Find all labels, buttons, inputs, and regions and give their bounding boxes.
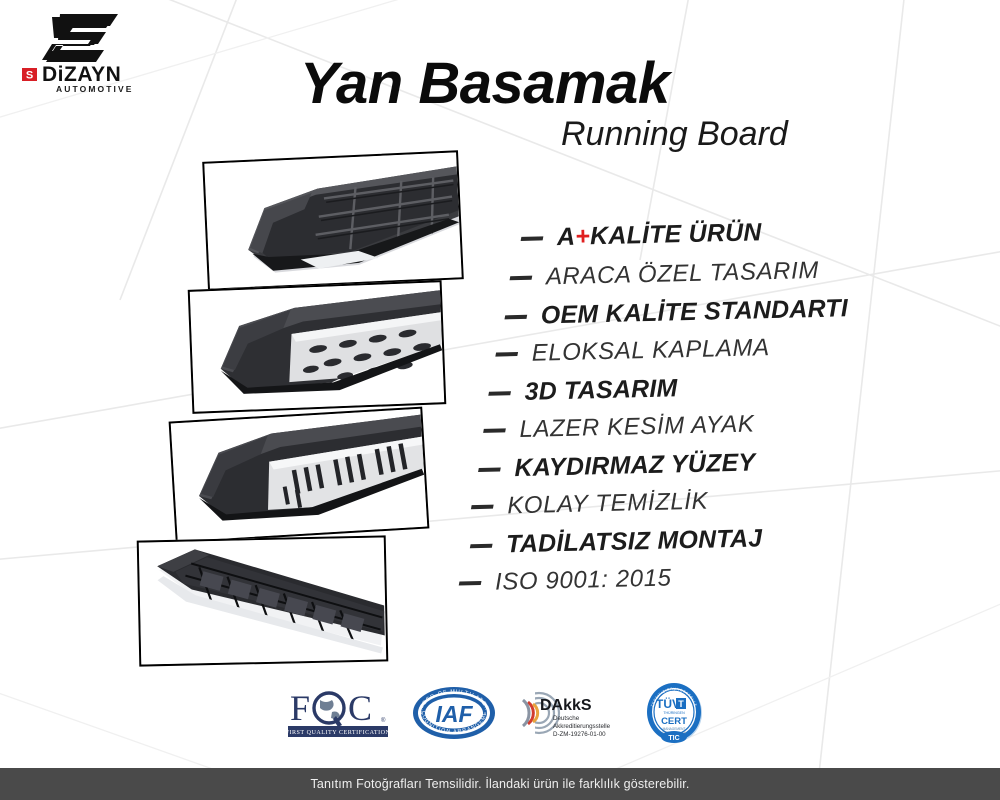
feature-item: TADİLATSIZ MONTAJ: [470, 526, 763, 558]
bullet-dash-icon: [495, 352, 518, 357]
cert-fqc-letters: F: [290, 688, 310, 728]
bullet-dash-icon: [504, 314, 527, 319]
feature-item: ELOKSAL KAPLAMA: [495, 336, 770, 366]
bullet-dash-icon: [471, 505, 494, 510]
feature-label: KOLAY TEMİZLİK: [507, 490, 708, 519]
feature-label: OEM KALİTE STANDARTI: [541, 296, 849, 328]
cert-dakks-line2: Akkreditierungsstelle: [553, 723, 611, 730]
feature-item: 3D TASARIM: [488, 376, 677, 405]
bullet-dash-icon: [488, 391, 511, 396]
svg-text:T: T: [678, 699, 684, 709]
feature-item: OEM KALİTE STANDARTI: [505, 296, 849, 329]
certification-badges: F C ® FIRST QUALITY CERTIFICATION IAF: [286, 684, 706, 746]
feature-item: KOLAY TEMİZLİK: [471, 490, 708, 520]
cert-dakks-line3: D-ZM-19276-01-00: [553, 731, 606, 738]
footer-disclaimer: Tanıtım Fotoğrafları Temsilidir. İlandak…: [310, 777, 689, 791]
bullet-dash-icon: [470, 543, 493, 548]
cert-dakks-line1: Deutsche: [553, 715, 580, 722]
feature-label: A+KALİTE ÜRÜN: [557, 220, 762, 250]
feature-item: A+KALİTE ÜRÜN: [521, 220, 762, 251]
cert-tuv-cert: CERT: [661, 716, 687, 727]
feature-label: LAZER KESİM AYAK: [519, 412, 755, 442]
cert-badge-fqc: F C ® FIRST QUALITY CERTIFICATION: [286, 686, 390, 745]
feature-label: TADİLATSIZ MONTAJ: [506, 526, 763, 557]
cert-badge-dakks: DAkkS Deutsche Akkreditierungsstelle D-Z…: [519, 686, 623, 745]
feature-list: A+KALİTE ÜRÜN ARACA ÖZEL TASARIM OEM KAL…: [451, 217, 930, 598]
feature-label: ELOKSAL KAPLAMA: [531, 336, 770, 366]
cert-dakks-name: DAkkS: [540, 697, 592, 714]
brand-tagline: AUTOMOTIVE: [56, 85, 134, 94]
brand-s-badge-icon: S: [22, 67, 37, 82]
feature-label: 3D TASARIM: [524, 376, 677, 405]
svg-text:®: ®: [381, 717, 386, 724]
product-photo: [137, 535, 389, 666]
product-photo: [169, 407, 430, 544]
bullet-dash-icon: [510, 276, 533, 281]
page-subtitle: Running Board: [561, 117, 788, 151]
brand-name: DiZAYN: [42, 64, 121, 85]
product-photo: [188, 280, 447, 414]
brand-wordmark: S DiZAYN: [22, 64, 157, 84]
cert-tuv-bottom: TIC: [668, 735, 679, 742]
cert-fqc-caption: FIRST QUALITY CERTIFICATION: [286, 730, 390, 736]
feature-label: ARACA ÖZEL TASARIM: [546, 259, 820, 289]
feature-label: KAYDIRMAZ YÜZEY: [514, 450, 756, 481]
bullet-dash-icon: [459, 581, 482, 586]
feature-item: LAZER KESİM AYAK: [483, 412, 755, 442]
bullet-dash-icon: [521, 236, 544, 241]
bullet-dash-icon: [483, 428, 506, 433]
feature-item: ISO 9001: 2015: [459, 566, 672, 595]
brand-logo: S DiZAYN AUTOMOTIVE: [22, 14, 157, 96]
bullet-dash-icon: [478, 467, 501, 472]
feature-item: KAYDIRMAZ YÜZEY: [478, 450, 755, 482]
page-title: Yan Basamak: [300, 55, 670, 113]
svg-text:C: C: [348, 688, 372, 728]
feature-item: ARACA ÖZEL TASARIM: [510, 259, 820, 290]
cert-iaf-letters: IAF: [436, 701, 474, 727]
cert-badge-tuv: TÜV T THÜRINGEN CERT MANAGEMENT SERVICE …: [644, 682, 706, 749]
svg-text:THÜRINGEN: THÜRINGEN: [663, 711, 685, 715]
product-banner: S DiZAYN AUTOMOTIVE Yan Basamak Running …: [0, 0, 1000, 800]
s-monogram-icon: [40, 14, 126, 62]
plus-accent: +: [575, 222, 590, 250]
footer-bar: Tanıtım Fotoğrafları Temsilidir. İlandak…: [0, 768, 1000, 800]
feature-label: ISO 9001: 2015: [495, 566, 672, 594]
cert-badge-iaf: IAF MEMBER OF MULTILATERAL RECOGNITION A…: [411, 685, 497, 746]
product-photo: [202, 150, 464, 290]
svg-text:S: S: [26, 69, 33, 81]
